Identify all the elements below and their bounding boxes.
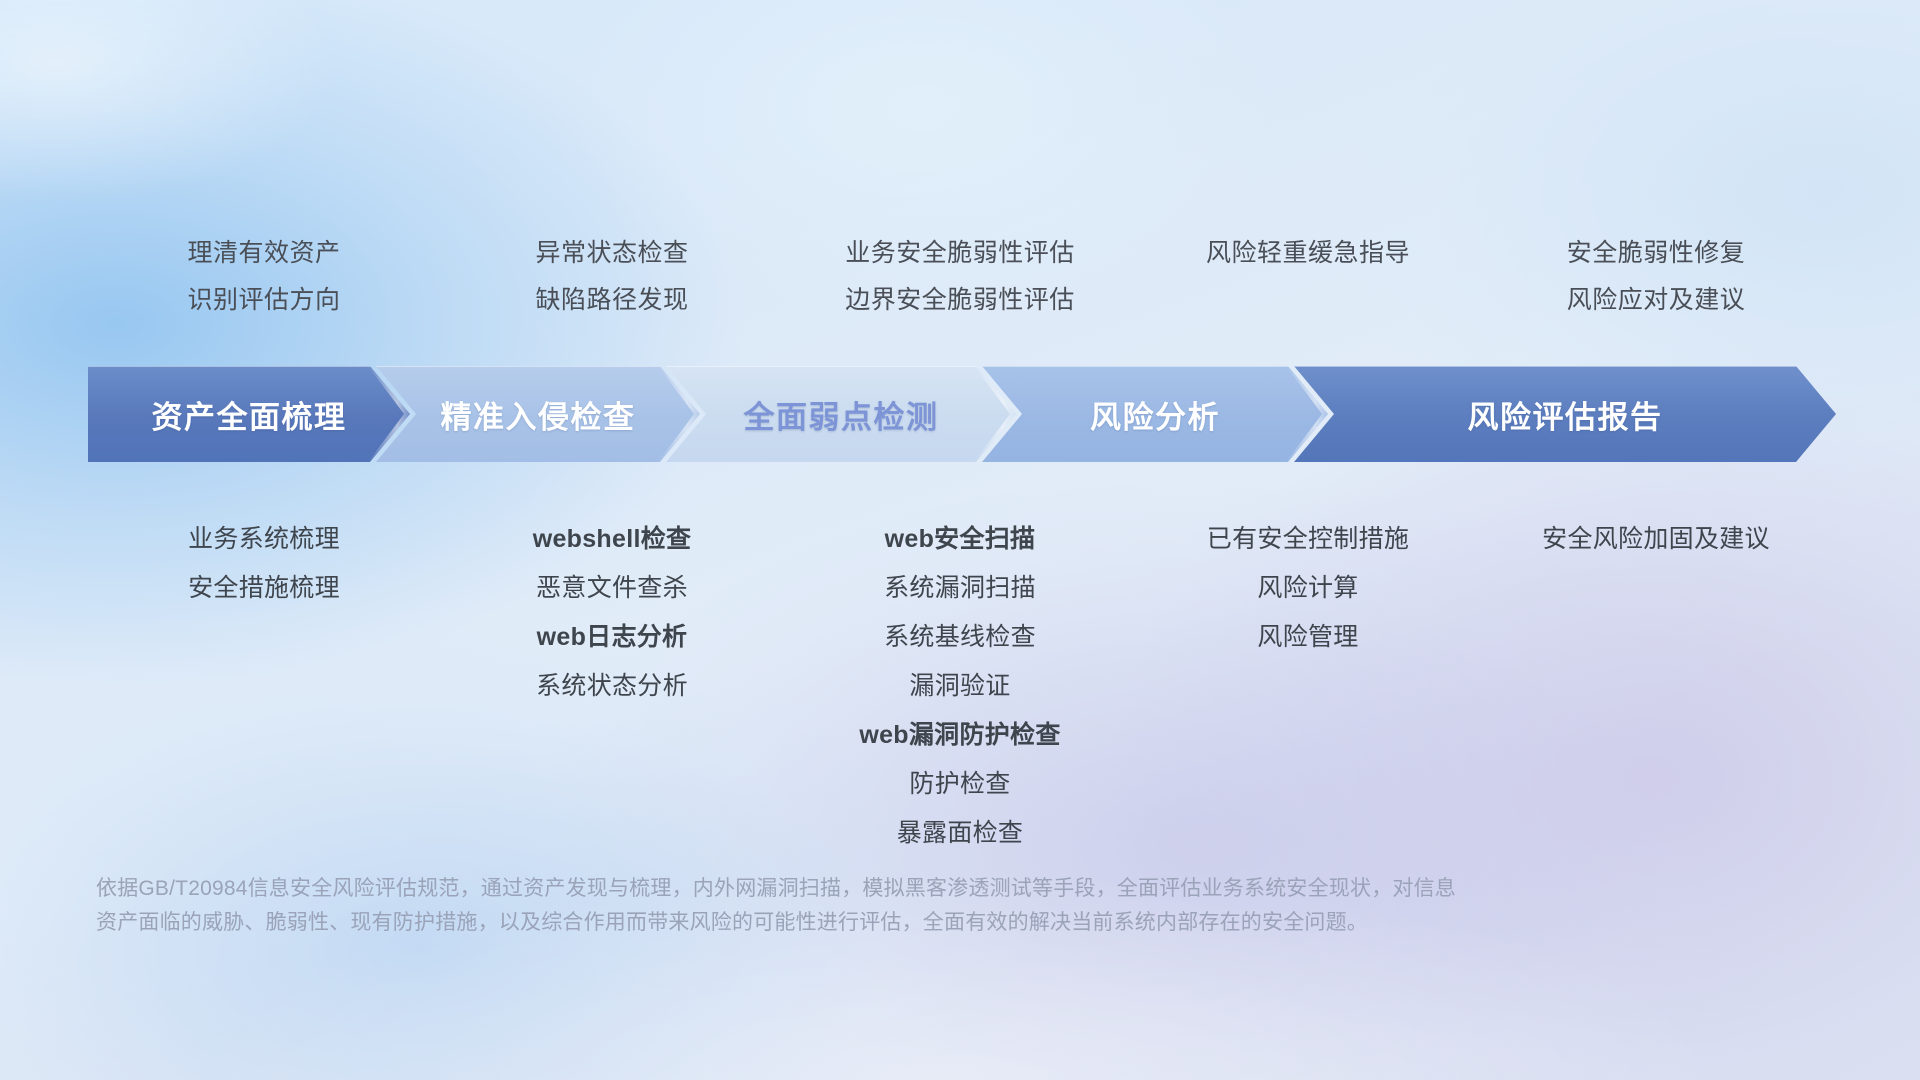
process-step-2-intrusion-check[interactable]: 精准入侵检查 — [376, 366, 700, 462]
list-item: 业务系统梳理 — [90, 515, 438, 564]
step-top-2-line-2: 缺陷路径发现 — [438, 277, 786, 324]
step-top-5-line-2: 风险应对及建议 — [1482, 277, 1830, 324]
footer-line-1: 依据GB/T20984信息安全风险评估规范，通过资产发现与梳理，内外网漏洞扫描，… — [96, 872, 1756, 906]
list-item: webshell检查 — [438, 515, 786, 564]
footer-line-2: 资产面临的威胁、脆弱性、现有防护措施，以及综合作用而带来风险的可能性进行评估，全… — [96, 906, 1756, 940]
step-top-3-line-2: 边界安全脆弱性评估 — [786, 277, 1134, 324]
process-step-3-label: 全面弱点检测 — [744, 392, 939, 437]
step-top-3: 业务安全脆弱性评估 边界安全脆弱性评估 — [786, 230, 1134, 340]
process-step-5-label: 风险评估报告 — [1468, 392, 1663, 437]
step-top-1-line-2: 识别评估方向 — [90, 277, 438, 324]
step-details-1: 业务系统梳理 安全措施梳理 — [90, 515, 438, 613]
process-step-2-label: 精准入侵检查 — [441, 392, 636, 437]
step-top-2-line-1: 异常状态检查 — [438, 230, 786, 277]
process-step-4-risk-analysis[interactable]: 风险分析 — [982, 366, 1328, 462]
step-top-2: 异常状态检查 缺陷路径发现 — [438, 230, 786, 340]
step-details-2: webshell检查 恶意文件查杀 web日志分析 系统状态分析 — [438, 515, 786, 711]
list-item: 风险管理 — [1134, 613, 1482, 662]
list-item: web安全扫描 — [786, 515, 1134, 564]
step-top-5: 安全脆弱性修复 风险应对及建议 — [1482, 230, 1830, 340]
process-diagram: 理清有效资产 识别评估方向 异常状态检查 缺陷路径发现 业务安全脆弱性评估 边界… — [0, 0, 1920, 1080]
process-step-4-label: 风险分析 — [1090, 392, 1220, 437]
step-top-4-line-1: 风险轻重缓急指导 — [1134, 230, 1482, 277]
step-top-5-line-1: 安全脆弱性修复 — [1482, 230, 1830, 277]
step-top-1: 理清有效资产 识别评估方向 — [90, 230, 438, 340]
list-item: 漏洞验证 — [786, 662, 1134, 711]
process-step-3-weakness-detection[interactable]: 全面弱点检测 — [666, 366, 1016, 462]
list-item: web日志分析 — [438, 613, 786, 662]
process-arrow-band: 资产全面梳理 精准入侵检查 全面弱点检测 风险分析 风险评估报告 — [88, 366, 1836, 462]
step-details-4: 已有安全控制措施 风险计算 风险管理 — [1134, 515, 1482, 662]
list-item: 恶意文件查杀 — [438, 564, 786, 613]
process-step-1-label: 资产全面梳理 — [152, 392, 347, 437]
list-item: 已有安全控制措施 — [1134, 515, 1482, 564]
step-top-4: 风险轻重缓急指导 — [1134, 230, 1482, 340]
step-top-descriptions: 理清有效资产 识别评估方向 异常状态检查 缺陷路径发现 业务安全脆弱性评估 边界… — [90, 230, 1830, 340]
step-top-1-line-1: 理清有效资产 — [90, 230, 438, 277]
list-item: 风险计算 — [1134, 564, 1482, 613]
step-top-3-line-1: 业务安全脆弱性评估 — [786, 230, 1134, 277]
list-item: 安全措施梳理 — [90, 564, 438, 613]
step-details-3: web安全扫描 系统漏洞扫描 系统基线检查 漏洞验证 web漏洞防护检查 防护检… — [786, 515, 1134, 858]
process-step-1-asset-inventory[interactable]: 资产全面梳理 — [88, 366, 410, 462]
list-item: 安全风险加固及建议 — [1482, 515, 1830, 564]
list-item: web漏洞防护检查 — [786, 711, 1134, 760]
list-item: 暴露面检查 — [786, 809, 1134, 858]
list-item: 系统漏洞扫描 — [786, 564, 1134, 613]
list-item: 防护检查 — [786, 760, 1134, 809]
footer-description: 依据GB/T20984信息安全风险评估规范，通过资产发现与梳理，内外网漏洞扫描，… — [96, 872, 1756, 940]
step-details-5: 安全风险加固及建议 — [1482, 515, 1830, 564]
list-item: 系统状态分析 — [438, 662, 786, 711]
list-item: 系统基线检查 — [786, 613, 1134, 662]
step-detail-columns: 业务系统梳理 安全措施梳理 webshell检查 恶意文件查杀 web日志分析 … — [90, 515, 1830, 858]
process-step-5-risk-report[interactable]: 风险评估报告 — [1294, 366, 1836, 462]
